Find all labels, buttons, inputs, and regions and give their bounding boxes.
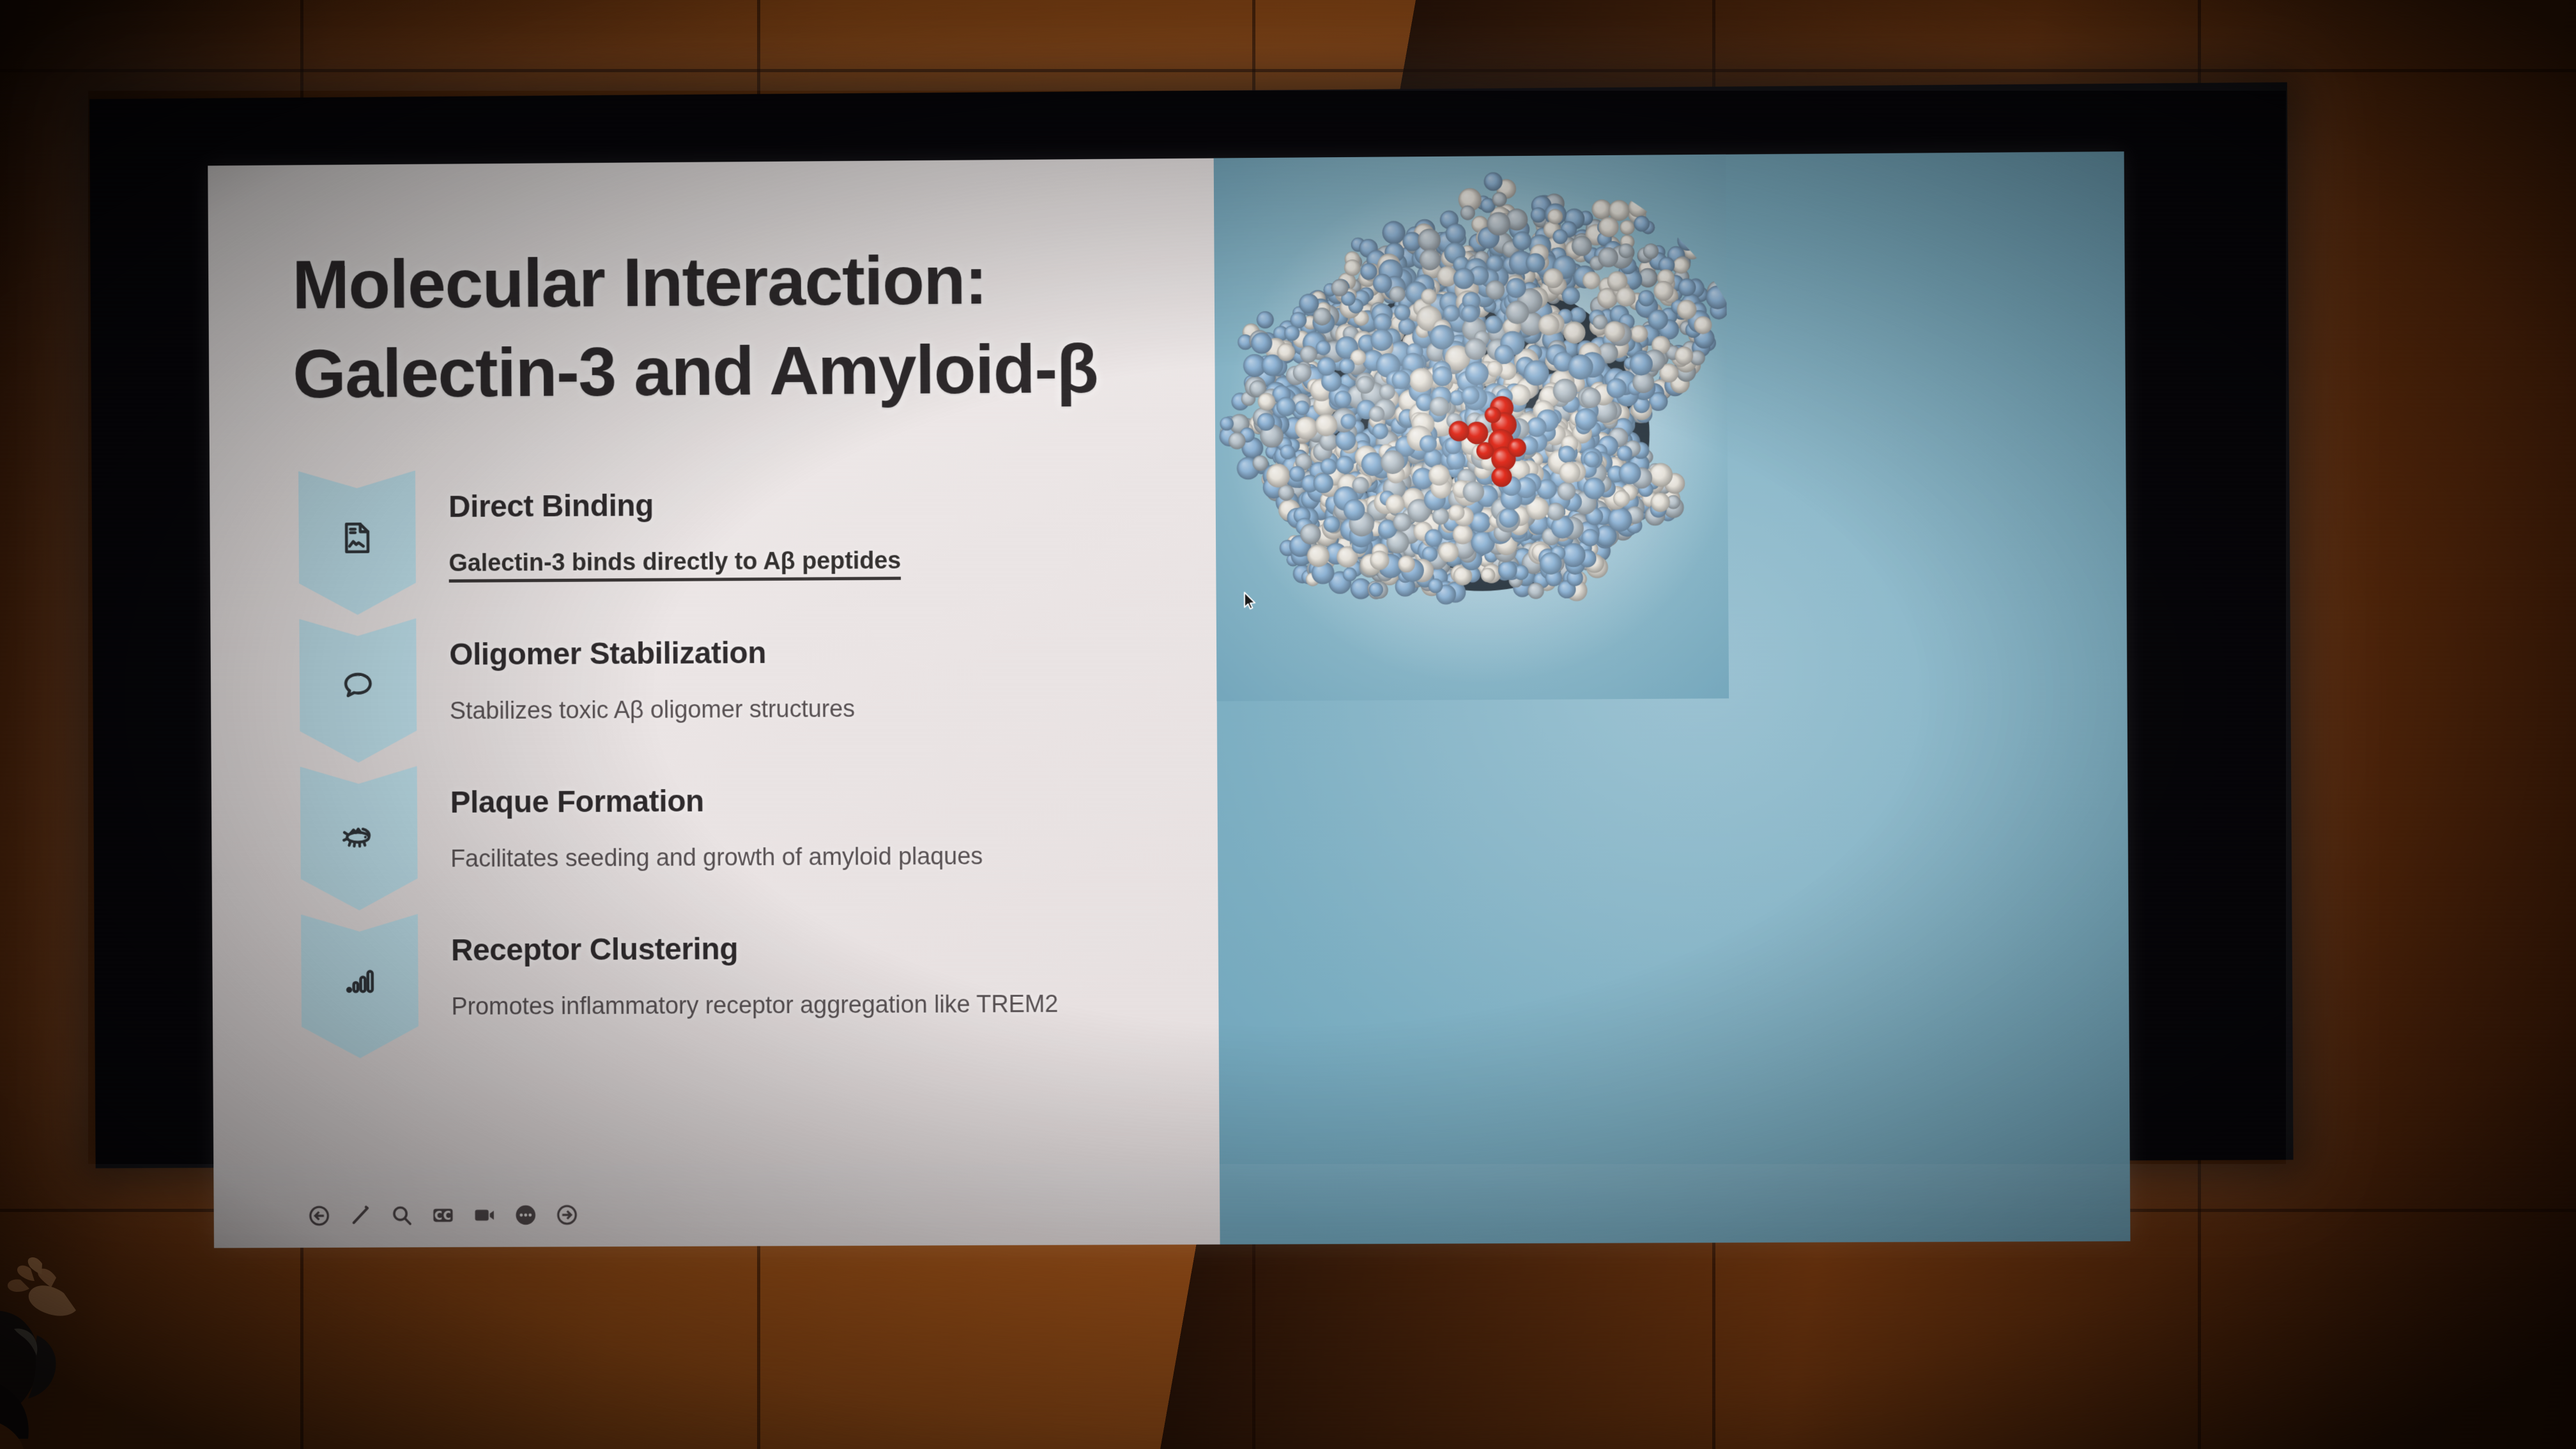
speech-bubble-icon xyxy=(300,667,417,705)
list-item-text: Direct Binding Galectin-3 binds directly… xyxy=(415,468,901,583)
chevron-badge xyxy=(299,618,417,763)
slide-image-panel xyxy=(1214,151,2131,1245)
list-item-heading: Receptor Clustering xyxy=(451,930,1058,968)
list-item-subtext: Galectin-3 binds directly to Aβ peptides xyxy=(448,547,901,582)
slideshow-toolbar[interactable] xyxy=(307,1202,580,1229)
list-item[interactable]: Plaque Formation Facilitates seeding and… xyxy=(295,762,1218,915)
list-item-heading: Oligomer Stabilization xyxy=(449,635,855,672)
pen-button[interactable] xyxy=(348,1203,373,1229)
list-item-text: Receptor Clustering Promotes inflammator… xyxy=(418,911,1059,1021)
list-item[interactable]: Receptor Clustering Promotes inflammator… xyxy=(296,910,1219,1062)
slide-content-panel: Molecular Interaction: Galectin-3 and Am… xyxy=(208,158,1220,1248)
zoom-button[interactable] xyxy=(389,1203,415,1229)
list-item-subtext: Promotes inflammatory receptor aggregati… xyxy=(451,991,1058,1021)
page-title: Molecular Interaction: Galectin-3 and Am… xyxy=(292,234,1127,419)
presentation-slide[interactable]: Molecular Interaction: Galectin-3 and Am… xyxy=(208,151,2130,1248)
chevron-badge xyxy=(298,470,416,615)
previous-slide-button[interactable] xyxy=(307,1203,332,1229)
document-chart-icon xyxy=(299,519,416,556)
list-item[interactable]: Oligomer Stabilization Stabilizes toxic … xyxy=(294,614,1217,767)
feature-list: Direct Binding Galectin-3 binds directly… xyxy=(293,465,1219,1062)
list-item-heading: Plaque Formation xyxy=(450,782,983,820)
chevron-badge xyxy=(301,914,418,1059)
list-item-text: Plaque Formation Facilitates seeding and… xyxy=(417,763,983,873)
list-item-subtext: Facilitates seeding and growth of amyloi… xyxy=(450,843,983,873)
projection-screen: Molecular Interaction: Galectin-3 and Am… xyxy=(89,82,2294,1169)
captions-button[interactable] xyxy=(430,1202,456,1228)
list-item-heading: Direct Binding xyxy=(448,487,901,525)
more-options-button[interactable] xyxy=(513,1202,539,1228)
presenter-silhouette xyxy=(0,1168,128,1449)
list-item-subtext: Stabilizes toxic Aβ oligomer structures xyxy=(450,696,855,725)
camera-button[interactable] xyxy=(471,1202,497,1228)
mouse-cursor xyxy=(1243,591,1257,610)
chevron-badge xyxy=(300,766,418,910)
bar-chart-icon xyxy=(301,962,418,1000)
auditorium-wall: Molecular Interaction: Galectin-3 and Am… xyxy=(0,0,2576,1449)
list-item[interactable]: Direct Binding Galectin-3 binds directly… xyxy=(293,465,1216,618)
protein-space-filling-model xyxy=(1214,155,1729,701)
list-item-text: Oligomer Stabilization Stabilizes toxic … xyxy=(416,616,855,726)
next-slide-button[interactable] xyxy=(554,1202,579,1228)
microbe-icon xyxy=(300,815,417,852)
wall-seam xyxy=(0,69,2576,72)
